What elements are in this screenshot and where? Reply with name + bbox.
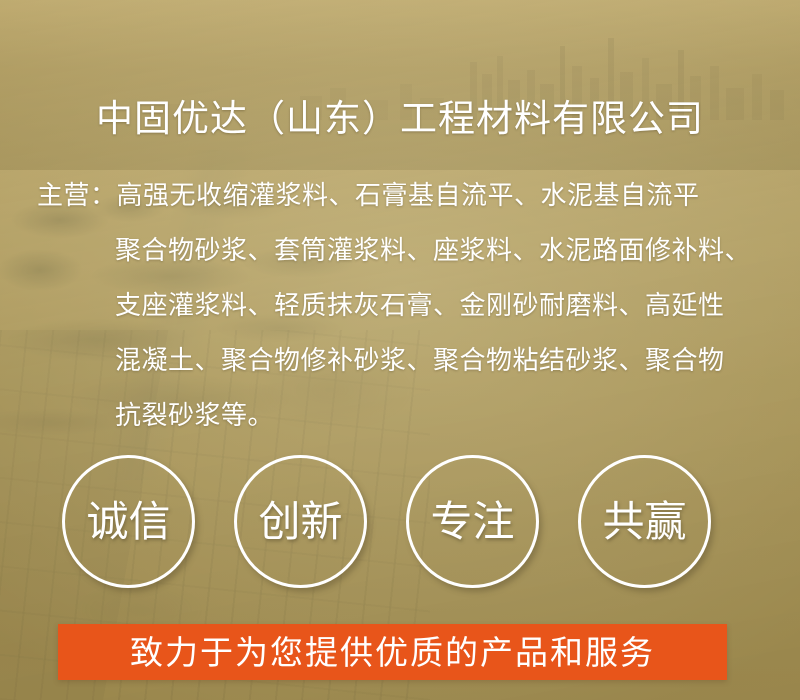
value-label-winwin: 共赢: [602, 501, 686, 543]
promotional-banner: 中固优达（山东）工程材料有限公司 主营：高强无收缩灌浆料、石膏基自流平、水泥基自…: [0, 0, 800, 700]
product-line-3: 支座灌浆料、轻质抹灰石膏、金刚砂耐磨料、高延性: [37, 278, 777, 333]
product-line-4: 混凝土、聚合物修补砂浆、聚合物粘结砂浆、聚合物: [37, 333, 777, 388]
value-label-integrity: 诚信: [86, 501, 170, 543]
slogan-text: 致力于为您提供优质的产品和服务: [130, 636, 655, 669]
product-line-2: 聚合物砂浆、套筒灌浆料、座浆料、水泥路面修补料、: [37, 223, 777, 278]
value-circle-focus: 专注: [406, 455, 539, 588]
company-title: 中固优达（山东）工程材料有限公司: [0, 96, 800, 142]
product-line-5: 抗裂砂浆等。: [37, 388, 777, 443]
value-circle-innovation: 创新: [234, 455, 367, 588]
value-label-innovation: 创新: [258, 501, 342, 543]
core-values-group: 诚信 创新 专注 共赢: [62, 455, 722, 591]
slogan-bar: 致力于为您提供优质的产品和服务: [58, 624, 727, 680]
product-line-1: 主营：高强无收缩灌浆料、石膏基自流平、水泥基自流平: [37, 168, 777, 223]
value-circle-winwin: 共赢: [578, 455, 711, 588]
value-label-focus: 专注: [430, 501, 514, 543]
banner-content: 中固优达（山东）工程材料有限公司 主营：高强无收缩灌浆料、石膏基自流平、水泥基自…: [0, 0, 800, 700]
product-list: 主营：高强无收缩灌浆料、石膏基自流平、水泥基自流平 聚合物砂浆、套筒灌浆料、座浆…: [37, 168, 777, 443]
value-circle-integrity: 诚信: [62, 455, 195, 588]
